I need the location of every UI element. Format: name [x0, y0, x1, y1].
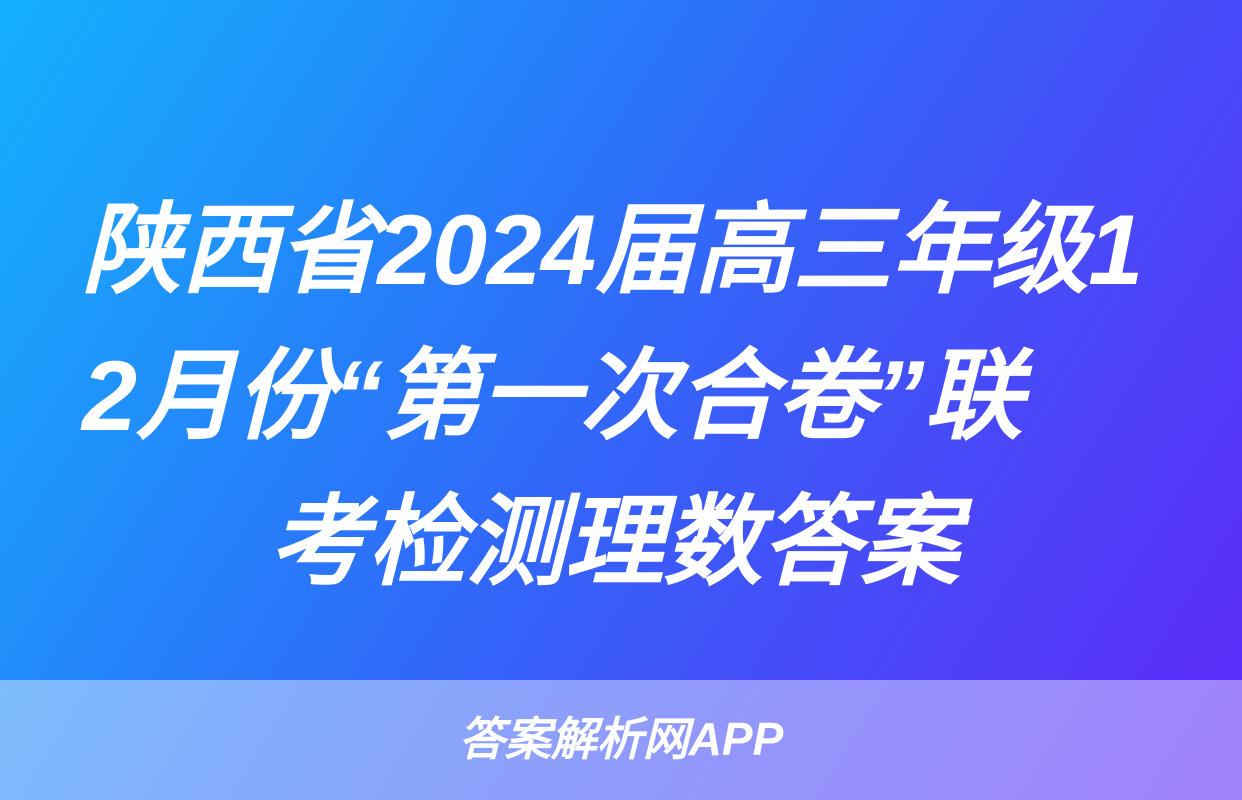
page-title: 陕西省2024届高三年级1 2月份“第一次合卷”联 考检测理数答案: [0, 177, 1242, 615]
promo-banner-card: 陕西省2024届高三年级1 2月份“第一次合卷”联 考检测理数答案 答案解析网A…: [0, 0, 1242, 800]
title-line-2: 2月份“第一次合卷”联: [82, 323, 1160, 469]
title-line-3: 考检测理数答案: [82, 469, 1160, 615]
title-line-1: 陕西省2024届高三年级1: [82, 177, 1160, 323]
app-watermark-label: 答案解析网APP: [459, 716, 784, 762]
footer-watermark-band: 答案解析网APP: [0, 680, 1242, 800]
